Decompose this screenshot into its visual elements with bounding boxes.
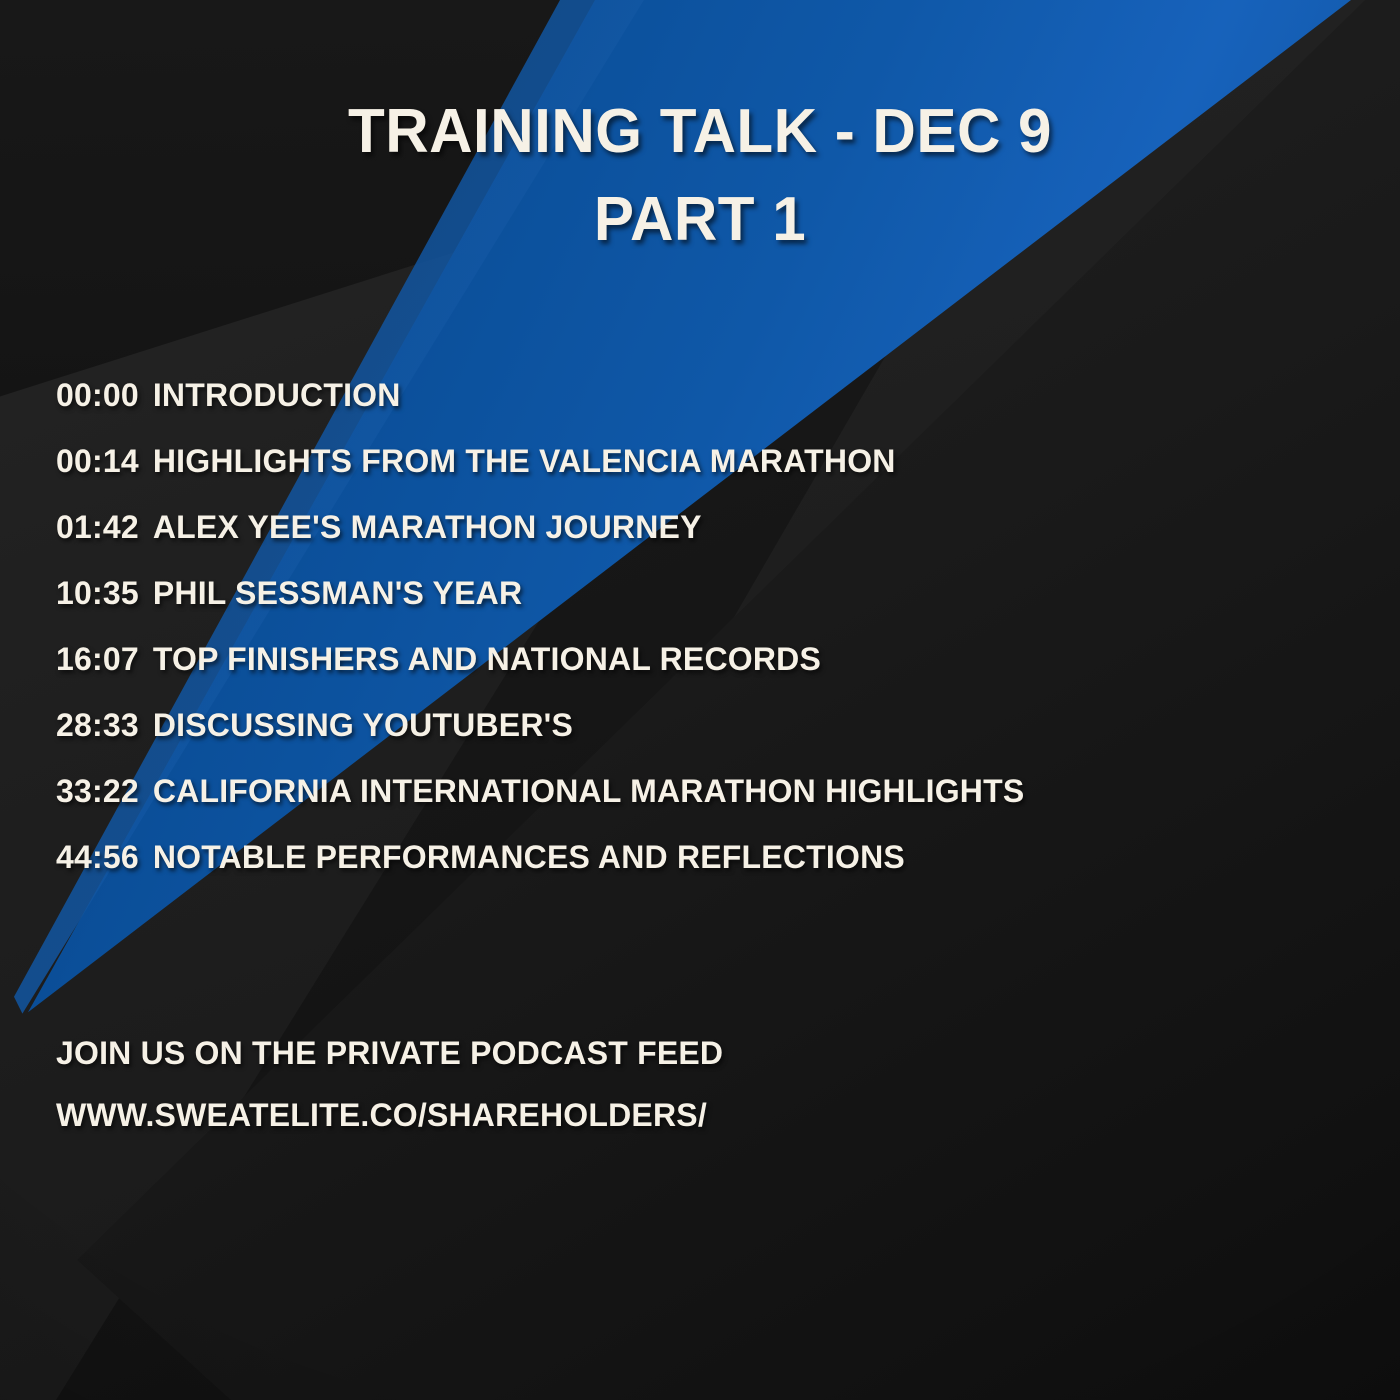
chapter-timestamp: 16:07 [56, 643, 139, 675]
chapter-timestamp: 01:42 [56, 511, 139, 543]
chapter-item: 10:35 PHIL SESSMAN'S YEAR [56, 560, 1356, 626]
title-line-secondary: PART 1 [21, 176, 1379, 264]
slide-content: TRAINING TALK - DEC 9 PART 1 00:00 INTRO… [0, 0, 1400, 1400]
title-block: TRAINING TALK - DEC 9 PART 1 [0, 88, 1400, 264]
chapter-label: DISCUSSING YOUTUBER'S [153, 709, 573, 741]
title-line-primary: TRAINING TALK - DEC 9 [21, 88, 1379, 176]
chapter-timestamp: 00:00 [56, 379, 139, 411]
chapter-label: TOP FINISHERS AND NATIONAL RECORDS [153, 643, 821, 675]
chapter-item: 33:22 CALIFORNIA INTERNATIONAL MARATHON … [56, 758, 1356, 824]
chapter-label: NOTABLE PERFORMANCES AND REFLECTIONS [153, 841, 905, 873]
chapter-label: INTRODUCTION [153, 379, 401, 411]
chapter-timestamp: 28:33 [56, 709, 139, 741]
slide-canvas: TRAINING TALK - DEC 9 PART 1 00:00 INTRO… [0, 0, 1400, 1400]
footer-block: JOIN US ON THE PRIVATE PODCAST FEED WWW.… [56, 1022, 1256, 1146]
chapter-timestamp: 44:56 [56, 841, 139, 873]
chapter-label: CALIFORNIA INTERNATIONAL MARATHON HIGHLI… [153, 775, 1025, 807]
chapter-label: ALEX YEE'S MARATHON JOURNEY [153, 511, 702, 543]
chapter-item: 01:42 ALEX YEE'S MARATHON JOURNEY [56, 494, 1356, 560]
chapter-label: PHIL SESSMAN'S YEAR [153, 577, 522, 609]
chapter-item: 00:14 HIGHLIGHTS FROM THE VALENCIA MARAT… [56, 428, 1356, 494]
chapter-timestamp-list: 00:00 INTRODUCTION 00:14 HIGHLIGHTS FROM… [56, 362, 1356, 890]
chapter-item: 00:00 INTRODUCTION [56, 362, 1356, 428]
chapter-item: 44:56 NOTABLE PERFORMANCES AND REFLECTIO… [56, 824, 1356, 890]
chapter-item: 16:07 TOP FINISHERS AND NATIONAL RECORDS [56, 626, 1356, 692]
chapter-timestamp: 33:22 [56, 775, 139, 807]
chapter-timestamp: 00:14 [56, 445, 139, 477]
footer-call-to-action: JOIN US ON THE PRIVATE PODCAST FEED [56, 1022, 1256, 1084]
chapter-timestamp: 10:35 [56, 577, 139, 609]
chapter-label: HIGHLIGHTS FROM THE VALENCIA MARATHON [153, 445, 896, 477]
footer-url: WWW.SWEATELITE.CO/SHAREHOLDERS/ [56, 1084, 1256, 1146]
chapter-item: 28:33 DISCUSSING YOUTUBER'S [56, 692, 1356, 758]
